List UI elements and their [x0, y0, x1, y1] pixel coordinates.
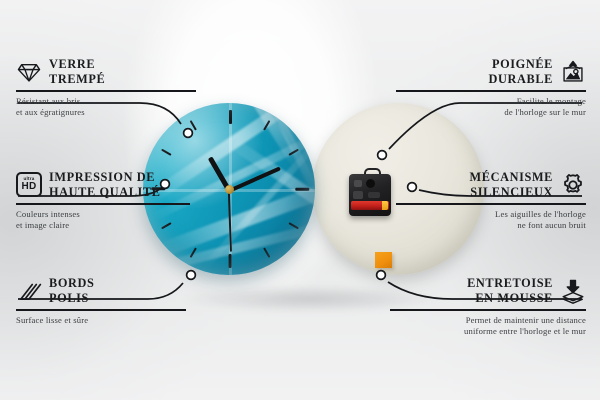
feature-title-line1: BORDS [49, 276, 94, 290]
feature-title: BORDS POLIS [49, 276, 94, 305]
clock-center-pin [225, 185, 234, 194]
feature-title-line2: EN MOUSSE [475, 291, 553, 305]
feature-verre-trempe: VERRE TREMPÉ Résistant aux bris et aux é… [16, 57, 202, 119]
foam-spacer-pad [375, 252, 392, 268]
feature-title-line1: MÉCANISME [470, 170, 553, 184]
clock-tick [229, 254, 232, 268]
polished-edges-icon [16, 278, 42, 304]
feature-header: ENTRETOISE EN MOUSSE [390, 276, 586, 305]
feature-title-line2: POLIS [49, 291, 89, 305]
feature-desc-line1: Résistant aux bris [16, 96, 80, 106]
feature-description: Couleurs intenses et image claire [16, 209, 202, 232]
feature-impression-haute-qualite: ultra HD IMPRESSION DE HAUTE QUALITÉ Cou… [16, 170, 202, 232]
feature-title-line2: SILENCIEUX [470, 185, 553, 199]
feature-description: Surface lisse et sûre [16, 315, 202, 327]
feature-title-line2: TREMPÉ [49, 72, 105, 86]
feature-desc-line2: uniforme entre l'horloge et le mur [464, 326, 586, 336]
feature-desc-line1: Les aiguilles de l'horloge [495, 209, 586, 219]
mechanism-detail-2 [366, 179, 375, 188]
mechanism-detail-1 [354, 180, 362, 187]
feature-desc-line1: Permet de maintenir une distance [466, 315, 586, 325]
feature-divider [396, 90, 586, 92]
feature-desc-line1: Couleurs intenses [16, 209, 80, 219]
feature-title: MÉCANISME SILENCIEUX [470, 170, 553, 199]
clock-tick [263, 247, 270, 258]
feature-description: Résistant aux bris et aux égratignures [16, 96, 202, 119]
diamond-icon [16, 59, 42, 85]
feature-title-line2: HAUTE QUALITÉ [49, 185, 161, 199]
feature-divider [16, 309, 186, 311]
feature-title-line1: ENTRETOISE [467, 276, 553, 290]
feature-title: POIGNÉE DURABLE [489, 57, 553, 86]
feature-header: VERRE TREMPÉ [16, 57, 202, 86]
feature-divider [396, 203, 586, 205]
foam-spacer-icon [560, 278, 586, 304]
feature-desc-line1: Facilite le montage [517, 96, 586, 106]
feature-title: IMPRESSION DE HAUTE QUALITÉ [49, 170, 161, 199]
feature-title: ENTRETOISE EN MOUSSE [467, 276, 553, 305]
clock-tick [161, 149, 172, 156]
feature-description: Permet de maintenir une distance uniform… [390, 315, 586, 338]
feature-header: ultra HD IMPRESSION DE HAUTE QUALITÉ [16, 170, 202, 199]
feature-header: BORDS POLIS [16, 276, 202, 305]
feature-mecanisme-silencieux: MÉCANISME SILENCIEUX Les aiguilles de l'… [396, 170, 586, 232]
feature-desc-line2: et aux égratignures [16, 107, 85, 117]
feature-title-line1: VERRE [49, 57, 95, 71]
feature-header: POIGNÉE DURABLE [396, 57, 586, 86]
feature-poignee-durable: POIGNÉE DURABLE Facilite le montage de l… [396, 57, 586, 119]
feature-title-line2: DURABLE [489, 72, 553, 86]
clock-tick [190, 120, 197, 131]
clock-tick [295, 188, 309, 191]
mechanism-detail-3 [353, 191, 363, 199]
mechanism-detail-4 [368, 192, 380, 198]
feature-header: MÉCANISME SILENCIEUX [396, 170, 586, 199]
clock-tick [229, 110, 232, 124]
feature-divider [390, 309, 586, 311]
feature-divider [16, 203, 190, 205]
feature-desc-line2: de l'horloge sur le mur [504, 107, 586, 117]
feature-title: VERRE TREMPÉ [49, 57, 105, 86]
feature-entretoise-en-mousse: ENTRETOISE EN MOUSSE Permet de maintenir… [390, 276, 586, 338]
feature-bords-polis: BORDS POLIS Surface lisse et sûre [16, 276, 202, 326]
picture-hanger-icon [560, 59, 586, 85]
feature-desc-line1: Surface lisse et sûre [16, 315, 88, 325]
ultra-hd-large-label: HD [21, 182, 36, 192]
battery-positive-terminal [382, 201, 388, 210]
feature-desc-line2: ne font aucun bruit [517, 220, 586, 230]
infographic-canvas: VERRE TREMPÉ Résistant aux bris et aux é… [0, 0, 600, 400]
feature-divider [16, 90, 196, 92]
feature-description: Les aiguilles de l'horloge ne font aucun… [396, 209, 586, 232]
feature-title-line1: IMPRESSION DE [49, 170, 155, 184]
feature-title-line1: POIGNÉE [492, 57, 553, 71]
feature-description: Facilite le montage de l'horloge sur le … [396, 96, 586, 119]
feature-desc-line2: et image claire [16, 220, 69, 230]
ultra-hd-icon: ultra HD [16, 172, 42, 197]
gear-icon [560, 172, 586, 198]
